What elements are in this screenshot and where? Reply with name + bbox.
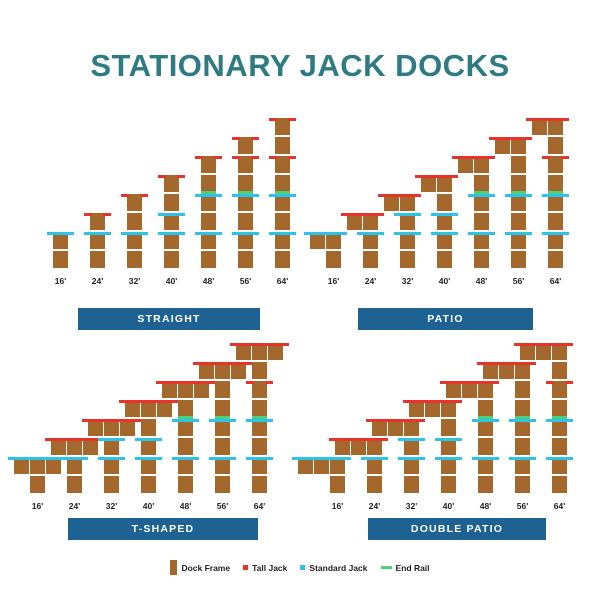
chart-area-patio: 16'24'32'40'48'56'64' (318, 115, 568, 290)
page-title: STATIONARY JACK DOCKS (0, 48, 600, 84)
standard-jack-rail (252, 419, 267, 422)
standard-jack-rail (552, 419, 567, 422)
frame-swatch (170, 560, 177, 575)
legend-label: End Rail (396, 563, 430, 573)
dock-frame-segment (548, 251, 563, 270)
dock-straight-64ft[interactable]: 64' (45, 115, 295, 290)
legend-item: End Rail (381, 563, 430, 573)
chart-area-double-patio: 16'24'32'40'48'56'64' (312, 340, 562, 515)
tall-jack (542, 156, 550, 159)
dock-patio-64ft[interactable]: 64' (318, 115, 568, 290)
tall-jack (561, 156, 569, 159)
tall-jack-rail (236, 343, 283, 346)
standard-jack-rail (252, 457, 267, 460)
section-label-t-shaped[interactable]: T-SHAPED (68, 518, 258, 540)
standard-jack-rail (275, 194, 290, 197)
standard-jack-swatch (300, 565, 305, 570)
tall-jack (288, 118, 296, 121)
panel-t-shaped: 16'24'32'40'48'56'64' (18, 340, 268, 515)
legend-label: Tall Jack (252, 563, 287, 573)
standard-jack-rail (275, 232, 290, 235)
size-label: 64' (543, 501, 576, 511)
tall-jack (246, 381, 254, 384)
standard-jack-rail (548, 194, 563, 197)
tall-jack (265, 381, 273, 384)
tall-jack (546, 381, 554, 384)
legend-item: Dock Frame (170, 560, 230, 575)
end-rail (548, 191, 563, 194)
tall-jack-rail (532, 118, 563, 121)
legend-item: Standard Jack (300, 563, 367, 573)
end-rail (275, 191, 290, 194)
standard-jack-rail (548, 232, 563, 235)
dock-frame-segment (252, 438, 267, 457)
legend-item: Tall Jack (243, 563, 287, 573)
tall-jack-swatch (243, 565, 248, 570)
section-label-straight[interactable]: STRAIGHT (78, 308, 260, 330)
chart-area-straight: 16'24'32'40'48'56'64' (45, 115, 295, 290)
legend: Dock FrameTall JackStandard JackEnd Rail (0, 560, 600, 575)
section-label-double-patio[interactable]: DOUBLE PATIO (368, 518, 546, 540)
panel-straight: 16'24'32'40'48'56'64' (45, 115, 295, 290)
standard-jack-rail (552, 457, 567, 460)
size-label: 64' (243, 501, 276, 511)
dock-frame-segment (552, 476, 567, 495)
tall-jack (565, 381, 573, 384)
panel-double-patio: 16'24'32'40'48'56'64' (312, 340, 562, 515)
size-label: 64' (539, 276, 572, 286)
size-label: 64' (266, 276, 299, 286)
dock-t-shaped-64ft[interactable]: 64' (18, 340, 268, 515)
dock-frame-segment (552, 438, 567, 457)
dock-double-patio-64ft[interactable]: 64' (312, 340, 562, 515)
dock-frame-segment (252, 476, 267, 495)
end-rail (252, 416, 267, 419)
dock-frame-segment (548, 137, 563, 156)
dock-frame-segment (275, 137, 290, 156)
tall-jack-rail (520, 343, 567, 346)
panel-patio: 16'24'32'40'48'56'64' (318, 115, 568, 290)
section-label-patio[interactable]: PATIO (358, 308, 533, 330)
tall-jack (269, 156, 277, 159)
dock-frame-segment (548, 213, 563, 232)
tall-jack (288, 156, 296, 159)
legend-label: Dock Frame (181, 563, 230, 573)
tall-jack (269, 118, 277, 121)
legend-label: Standard Jack (309, 563, 367, 573)
end-rail-swatch (381, 566, 392, 569)
dock-frame-segment (275, 213, 290, 232)
end-rail (552, 416, 567, 419)
dock-frame-segment (275, 251, 290, 270)
chart-area-t-shaped: 16'24'32'40'48'56'64' (18, 340, 268, 515)
dock-frame-segment (252, 362, 267, 381)
dock-frame-segment (552, 362, 567, 381)
